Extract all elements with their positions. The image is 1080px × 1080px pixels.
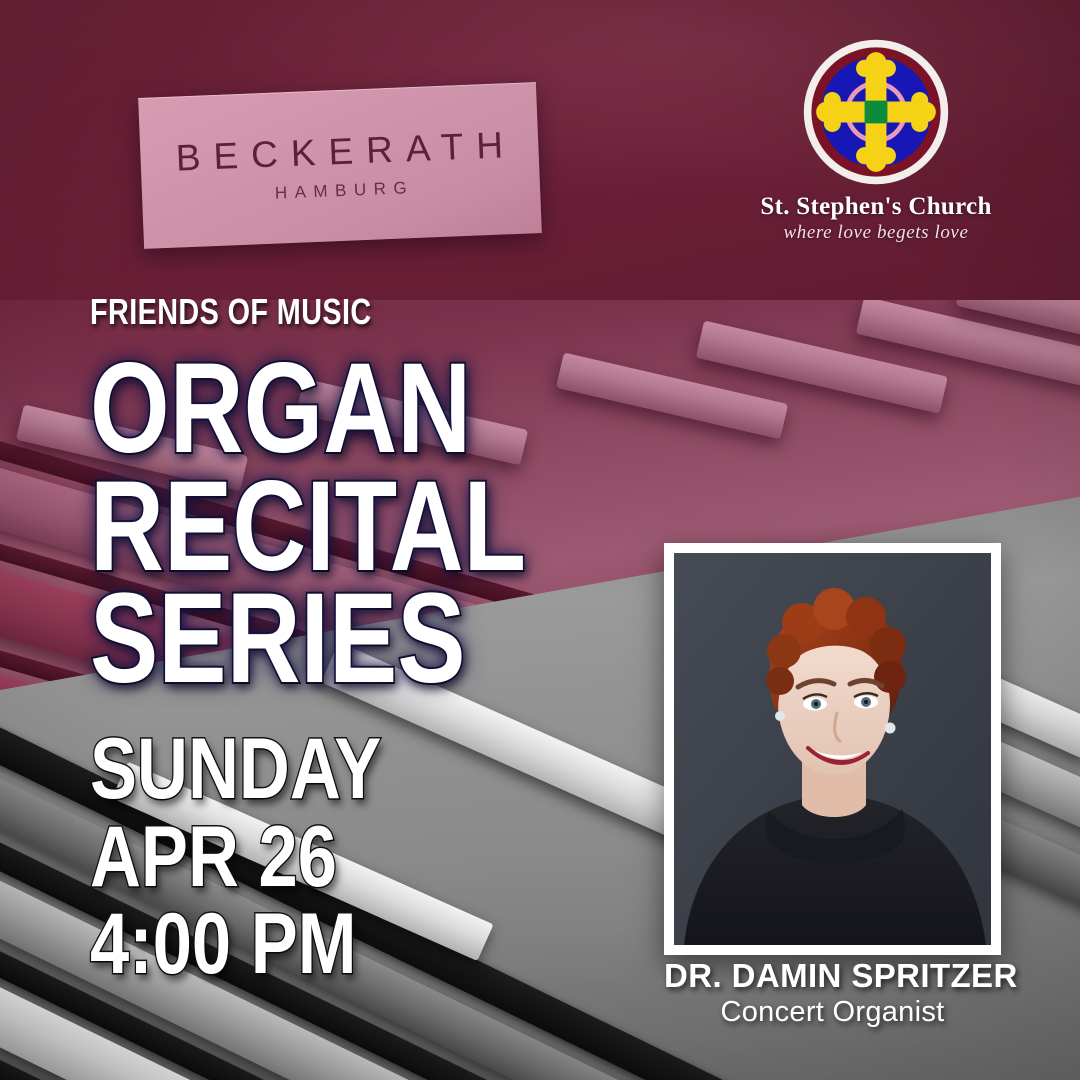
organ-recital-poster: BECKERATH HAMBURG St. Stephen (0, 0, 1080, 1080)
event-date-label: APR 26 (90, 814, 381, 902)
eyebrow-label: FRIENDS OF MUSIC (90, 294, 882, 330)
church-tagline-label: where love begets love (783, 222, 968, 244)
plaque-brand-label: BECKERATH (162, 125, 517, 176)
plaque-city-label: HAMBURG (267, 179, 414, 202)
event-time-label: 4:00 PM (90, 901, 381, 989)
church-cross-emblem-icon (800, 36, 952, 188)
beckerath-plaque: BECKERATH HAMBURG (138, 82, 542, 249)
performer-name-label: DR. DAMIN SPRITZER (664, 958, 1001, 994)
performer-role-label: Concert Organist (664, 996, 1001, 1029)
performer-credit: DR. DAMIN SPRITZER Concert Organist (664, 958, 1001, 1030)
performer-portrait-frame (664, 543, 1001, 955)
event-datetime-block: SUNDAY APR 26 4:00 PM (90, 726, 445, 989)
event-day-label: SUNDAY (90, 726, 381, 814)
church-logo: St. Stephen's Church where love begets l… (770, 36, 982, 244)
performer-portrait (674, 553, 991, 945)
church-name-label: St. Stephen's Church (760, 193, 991, 221)
